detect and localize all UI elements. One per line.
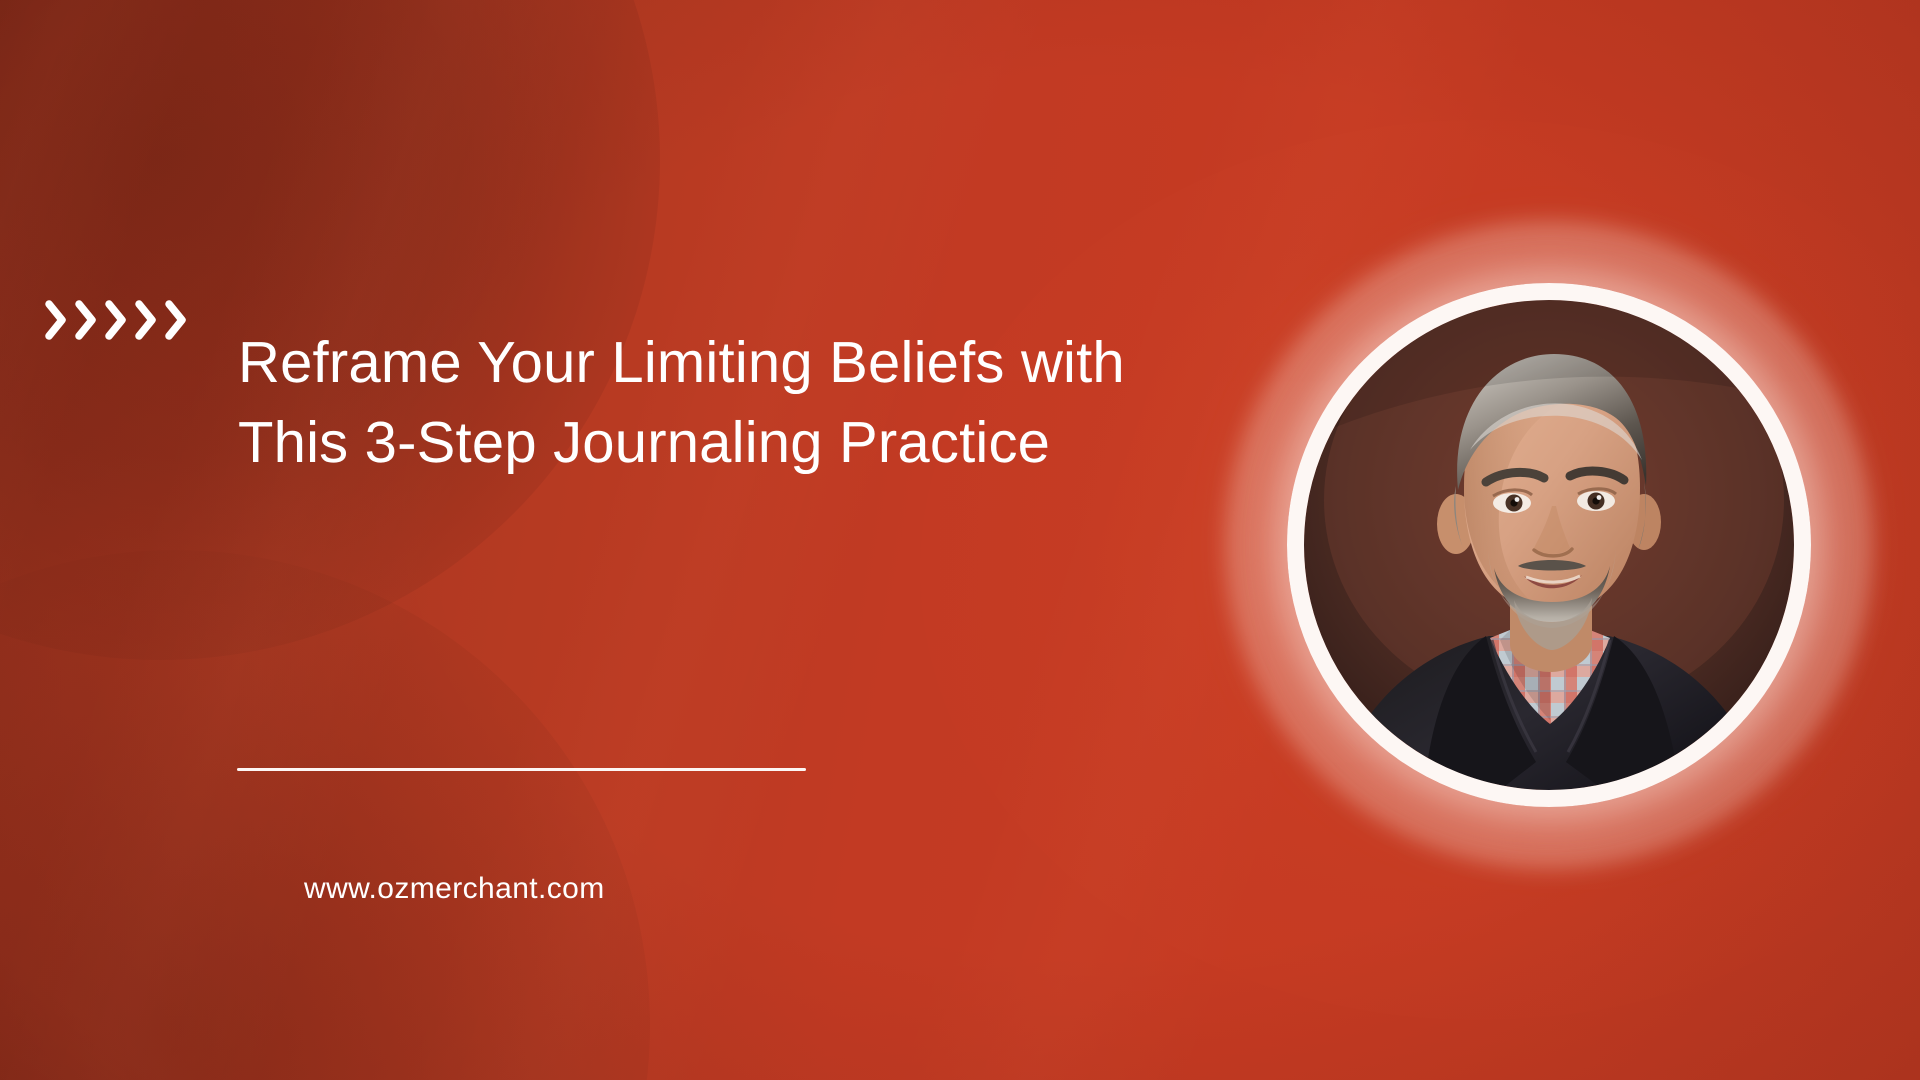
double-chevron-right-icon: [42, 292, 190, 348]
social-promo-card: Reframe Your Limiting Beliefs with This …: [0, 0, 1920, 1080]
text-column: Reframe Your Limiting Beliefs with This …: [0, 0, 1180, 1080]
headline-title: Reframe Your Limiting Beliefs with This …: [238, 323, 1158, 483]
divider-rule: [237, 768, 806, 771]
portrait-ring-border: [1287, 283, 1811, 807]
portrait-frame: [1204, 200, 1894, 890]
website-url[interactable]: www.ozmerchant.com: [304, 872, 605, 906]
